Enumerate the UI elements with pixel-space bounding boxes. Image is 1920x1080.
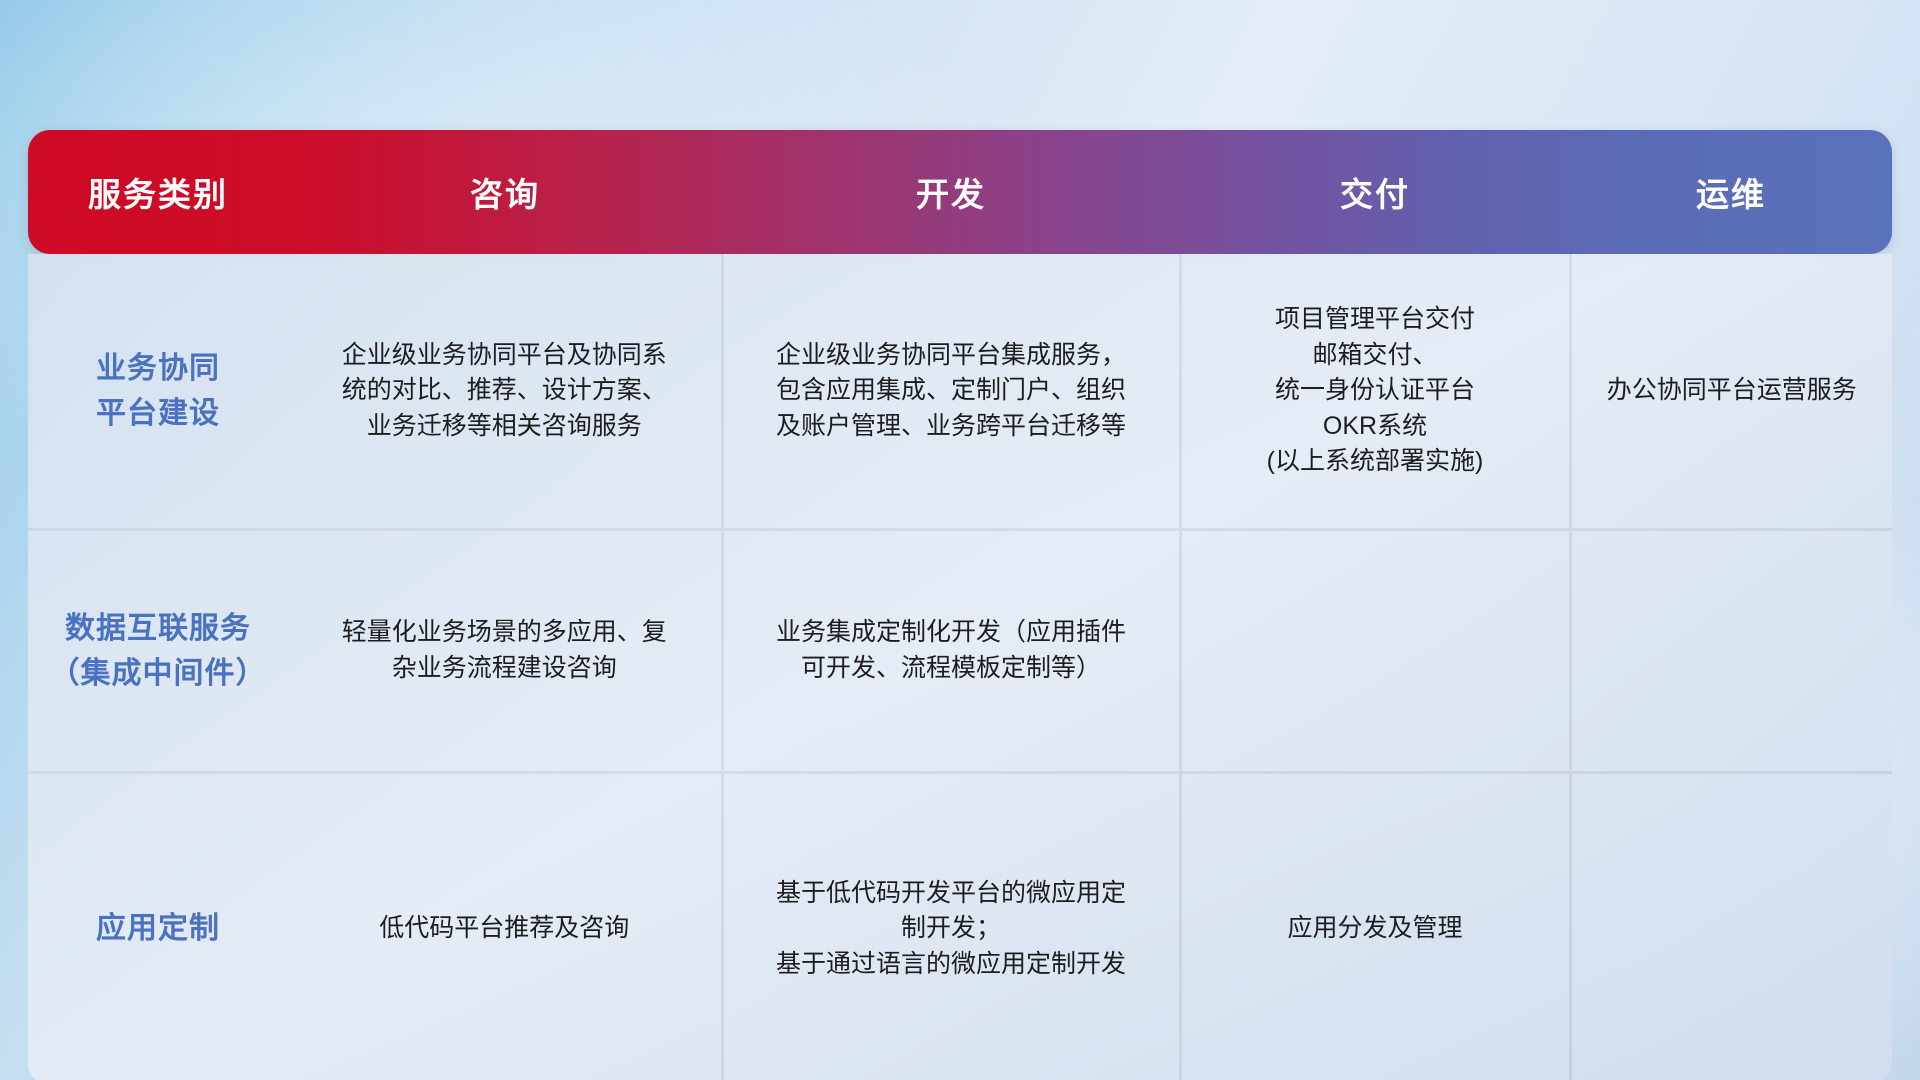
column-header-operations: 运维 bbox=[1570, 130, 1892, 254]
cell-operations bbox=[1570, 772, 1892, 1080]
table-row: 应用定制 低代码平台推荐及咨询 基于低代码开发平台的微应用定 制开发； 基于通过… bbox=[28, 772, 1892, 1080]
slide-canvas: 服务类别 咨询 开发 交付 运维 业务协同 平台建设 企业级业务协同平台及协同系… bbox=[0, 0, 1920, 1080]
cell-development: 企业级业务协同平台集成服务， 包含应用集成、定制门户、组织 及账户管理、业务跨平… bbox=[722, 254, 1180, 529]
service-matrix-table: 服务类别 咨询 开发 交付 运维 业务协同 平台建设 企业级业务协同平台及协同系… bbox=[28, 130, 1920, 1080]
header-row: 服务类别 咨询 开发 交付 运维 bbox=[28, 130, 1892, 254]
row-category-label: 数据互联服务 （集成中间件） bbox=[28, 529, 288, 772]
cell-operations: 办公协同平台运营服务 bbox=[1570, 254, 1892, 529]
row-category-label: 应用定制 bbox=[28, 772, 288, 1080]
table-row: 业务协同 平台建设 企业级业务协同平台及协同系 统的对比、推荐、设计方案、 业务… bbox=[28, 254, 1892, 529]
cell-delivery: 应用分发及管理 bbox=[1180, 772, 1570, 1080]
table-header: 服务类别 咨询 开发 交付 运维 bbox=[28, 130, 1892, 254]
cell-delivery bbox=[1180, 529, 1570, 772]
cell-delivery: 项目管理平台交付 邮箱交付、 统一身份认证平台 OKR系统 (以上系统部署实施) bbox=[1180, 254, 1570, 529]
table-row: 数据互联服务 （集成中间件） 轻量化业务场景的多应用、复 杂业务流程建设咨询 业… bbox=[28, 529, 1892, 772]
service-table: 服务类别 咨询 开发 交付 运维 业务协同 平台建设 企业级业务协同平台及协同系… bbox=[28, 130, 1892, 1080]
row-category-label: 业务协同 平台建设 bbox=[28, 254, 288, 529]
cell-consulting: 轻量化业务场景的多应用、复 杂业务流程建设咨询 bbox=[288, 529, 722, 772]
cell-development: 业务集成定制化开发（应用插件 可开发、流程模板定制等） bbox=[722, 529, 1180, 772]
column-header-delivery: 交付 bbox=[1180, 130, 1570, 254]
cell-consulting: 企业级业务协同平台及协同系 统的对比、推荐、设计方案、 业务迁移等相关咨询服务 bbox=[288, 254, 722, 529]
cell-consulting: 低代码平台推荐及咨询 bbox=[288, 772, 722, 1080]
cell-development: 基于低代码开发平台的微应用定 制开发； 基于通过语言的微应用定制开发 bbox=[722, 772, 1180, 1080]
column-header-service-category: 服务类别 bbox=[28, 130, 288, 254]
cell-operations bbox=[1570, 529, 1892, 772]
table-body: 业务协同 平台建设 企业级业务协同平台及协同系 统的对比、推荐、设计方案、 业务… bbox=[28, 254, 1892, 1080]
column-header-consulting: 咨询 bbox=[288, 130, 722, 254]
column-header-development: 开发 bbox=[722, 130, 1180, 254]
